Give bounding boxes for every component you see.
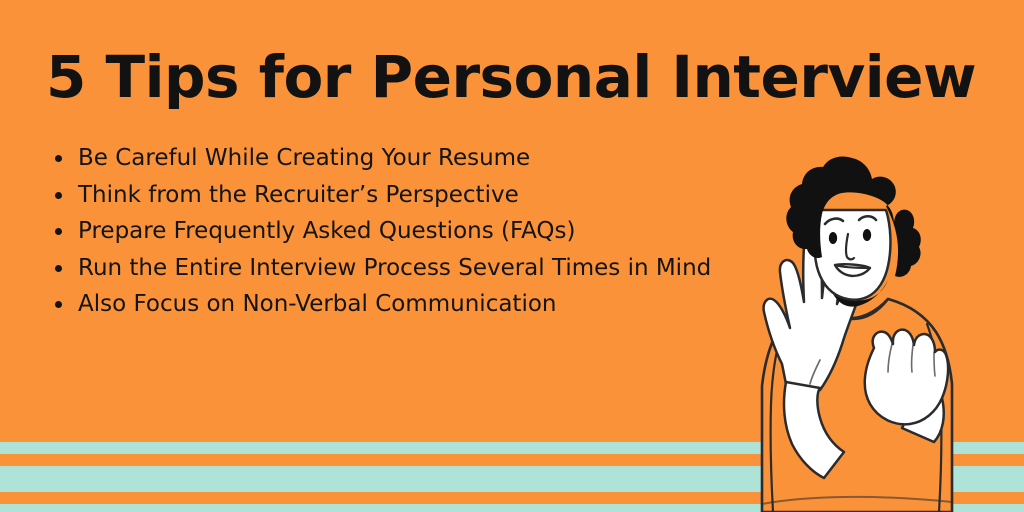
list-item-label: Be Careful While Creating Your Resume [78,145,530,171]
bullet-dot-icon [55,265,62,272]
list-item-label: Run the Entire Interview Process Several… [78,255,711,281]
eye-right [863,229,871,241]
eye-left [829,232,837,244]
list-item: Run the Entire Interview Process Several… [48,250,711,287]
list-item-label: Also Focus on Non-Verbal Communication [78,291,557,317]
text-content: 5 Tips for Personal Interview Be Careful… [0,0,780,512]
bullet-dot-icon [55,192,62,199]
list-item: Prepare Frequently Asked Questions (FAQs… [48,213,711,250]
bullet-dot-icon [55,228,62,235]
list-item: Also Focus on Non-Verbal Communication [48,286,711,323]
bullet-dot-icon [55,155,62,162]
tips-list: Be Careful While Creating Your Resume Th… [48,140,711,323]
bullet-dot-icon [55,301,62,308]
list-item-label: Prepare Frequently Asked Questions (FAQs… [78,218,576,244]
list-item-label: Think from the Recruiter’s Perspective [78,182,519,208]
list-item: Be Careful While Creating Your Resume [48,140,711,177]
waving-person-illustration [724,152,1024,512]
list-item: Think from the Recruiter’s Perspective [48,177,711,214]
poster-canvas: 5 Tips for Personal Interview Be Careful… [0,0,1024,512]
page-title: 5 Tips for Personal Interview [46,46,976,108]
